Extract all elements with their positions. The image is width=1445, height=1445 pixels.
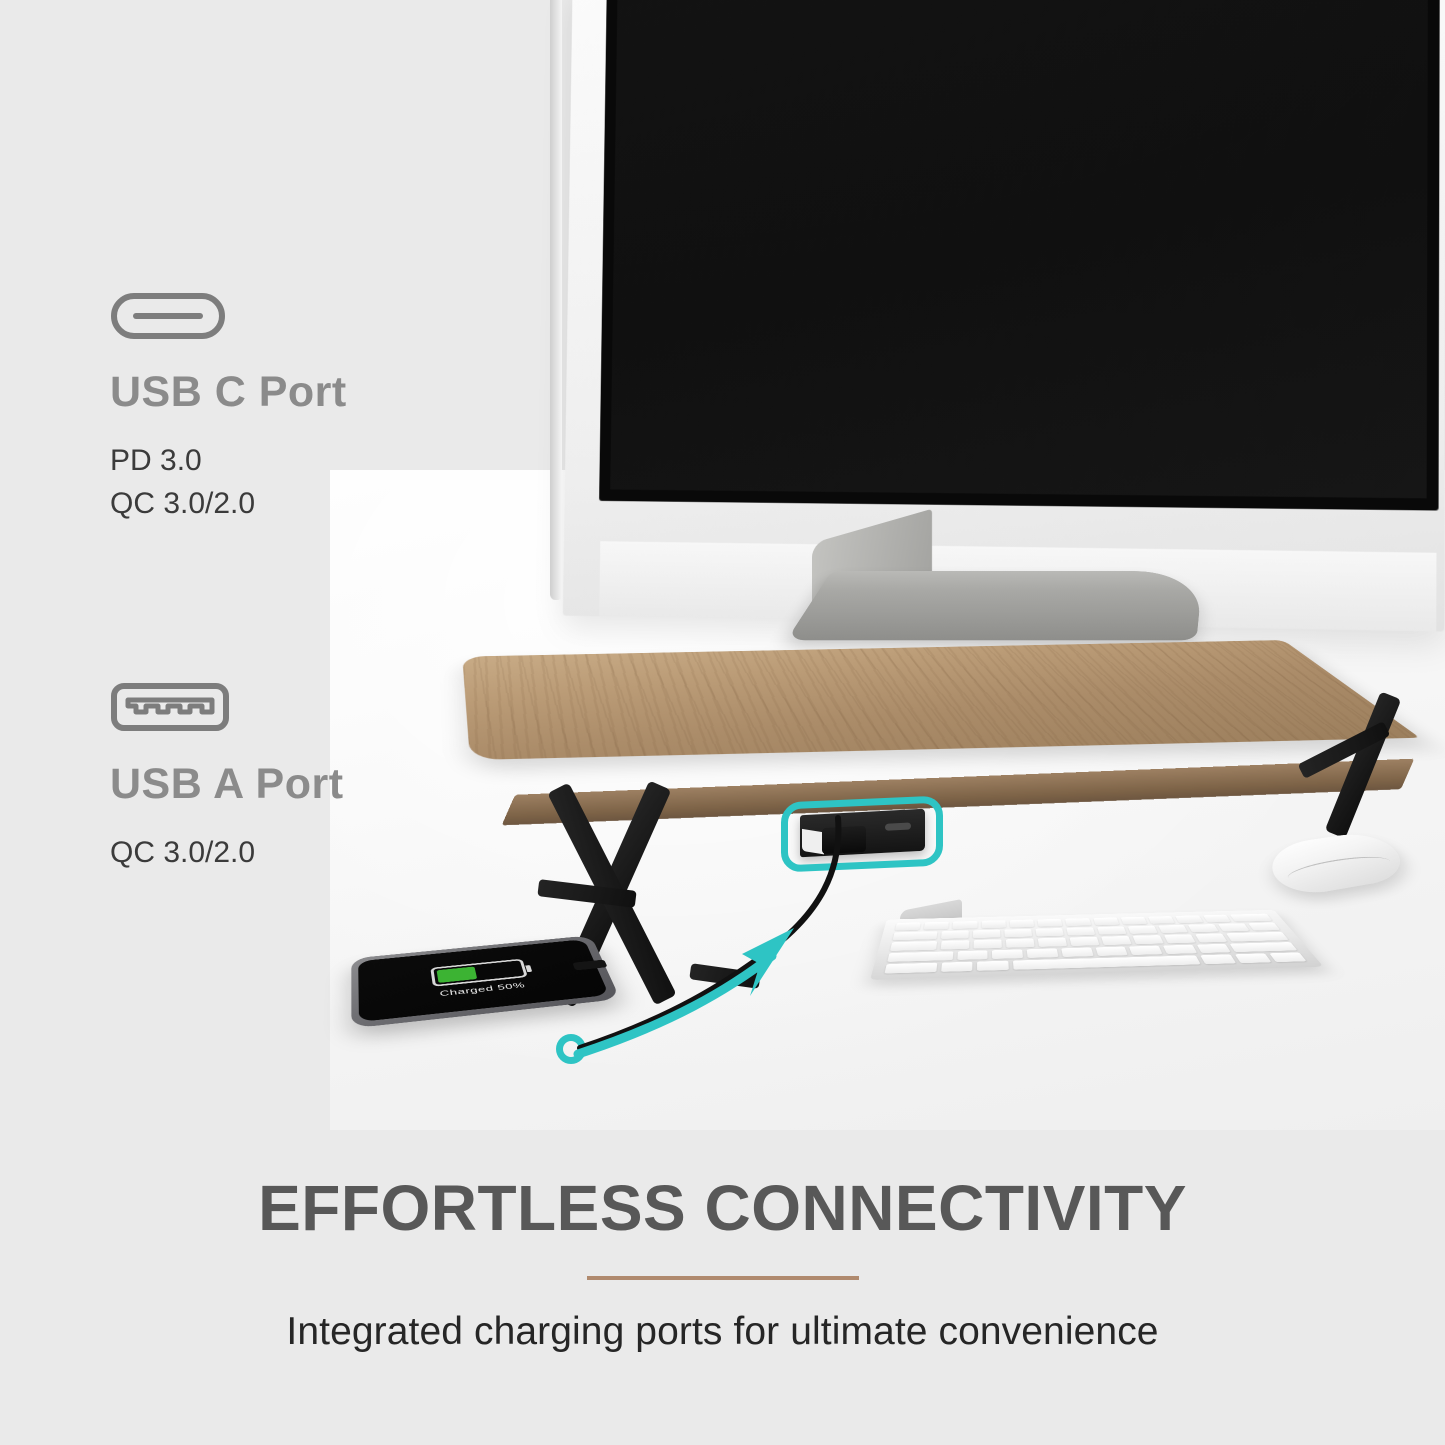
product-feature-graphic: Charged 50% USB C Port PD 3.0 QC 3.0/2.0	[0, 0, 1445, 1445]
shelf-top-surface	[462, 640, 1420, 760]
feature-usb-a: USB A Port QC 3.0/2.0	[110, 682, 344, 875]
divider-line	[587, 1276, 859, 1280]
monitor-side-edge	[550, 0, 562, 600]
headline: EFFORTLESS CONNECTIVITY	[0, 1175, 1445, 1242]
feature-usb-c-title: USB C Port	[110, 371, 347, 414]
feature-usb-c-spec-2: QC 3.0/2.0	[110, 483, 347, 526]
keyboard-keys	[884, 914, 1306, 974]
feature-usb-a-spec-1: QC 3.0/2.0	[110, 832, 344, 875]
tagline: Integrated charging ports for ultimate c…	[0, 1310, 1445, 1354]
wooden-monitor-stand	[470, 545, 1445, 835]
monitor-screen	[599, 0, 1440, 511]
footer-block: EFFORTLESS CONNECTIVITY Integrated charg…	[0, 1175, 1445, 1354]
battery-fill	[437, 966, 478, 982]
monitor-body	[563, 0, 1445, 632]
usb-c-port-icon	[110, 292, 347, 345]
product-photo-scene: Charged 50%	[0, 0, 1445, 1130]
feature-usb-a-title: USB A Port	[110, 763, 344, 806]
feature-usb-c: USB C Port PD 3.0 QC 3.0/2.0	[110, 292, 347, 525]
teal-pointer-arrow	[520, 800, 900, 1080]
usb-a-port-icon	[110, 682, 344, 737]
feature-usb-c-spec-1: PD 3.0	[110, 440, 347, 483]
